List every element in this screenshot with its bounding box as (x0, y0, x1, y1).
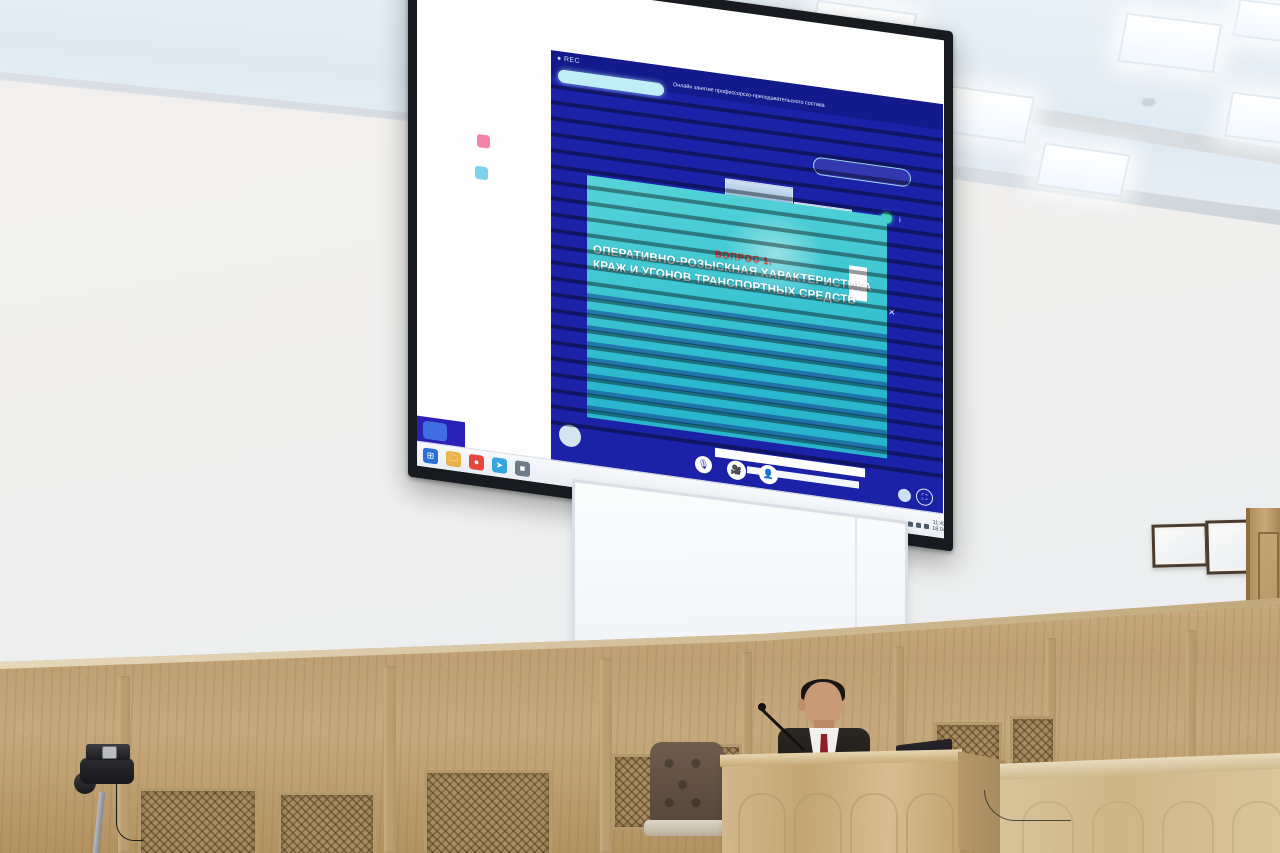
info-icon[interactable]: i (899, 215, 901, 224)
wall-mounted-tv[interactable]: ● REC Онлайн занятие профессорско-препод… (408, 0, 953, 552)
tray-icon[interactable] (924, 523, 929, 529)
radiator-grille-panel (278, 792, 376, 853)
podium-arch (794, 793, 842, 853)
desk-arch (1092, 801, 1144, 853)
start-tile-glyph (423, 420, 447, 441)
frame-mat (1211, 526, 1248, 569)
wainscot-pillar (600, 658, 612, 853)
wainscot-pillar (384, 666, 396, 853)
podium-arch (850, 793, 898, 853)
tv-screen[interactable]: ● REC Онлайн занятие профессорско-препод… (417, 0, 944, 538)
radiator-grille-panel (424, 770, 552, 853)
armchair-back (650, 742, 724, 824)
microphone-capsule (758, 703, 766, 711)
video-conference-window[interactable]: ● REC Онлайн занятие профессорско-препод… (551, 50, 943, 518)
taskbar-icon-explorer[interactable]: 🗀 (446, 450, 461, 467)
tripod-camera[interactable] (58, 742, 168, 853)
taskbar-icon-chrome[interactable]: ● (469, 453, 484, 470)
armchair-seat (644, 820, 730, 836)
armchair[interactable] (644, 742, 728, 846)
taskbar-clock-date[interactable]: 18.04 (932, 527, 944, 535)
taskbar-icon-app[interactable]: ■ (515, 460, 530, 477)
desktop-icon-pink[interactable] (477, 134, 490, 149)
wall-frame-left (1151, 523, 1208, 567)
conference-title-bar (551, 50, 943, 130)
tripod-leg (93, 792, 105, 853)
desktop-icon-cyan[interactable] (475, 166, 488, 181)
tray-icon[interactable] (916, 522, 921, 528)
tray-icon[interactable] (908, 521, 913, 527)
camera-cable (116, 782, 143, 841)
taskbar-icon-start[interactable]: ⊞ (423, 447, 438, 464)
led-ceiling-panel (1233, 0, 1280, 43)
desk-arch (1162, 801, 1214, 853)
podium-arch (906, 793, 954, 853)
lecture-hall-scene: ● REC Онлайн занятие профессорско-препод… (0, 0, 1280, 853)
tripod-head (80, 758, 134, 784)
podium-arch (738, 793, 786, 853)
taskbar-icon-telegram[interactable]: ➤ (492, 456, 507, 473)
smoke-detector-icon (1142, 98, 1155, 105)
microphone-arm (759, 706, 805, 751)
frame-mat (1158, 529, 1203, 561)
desk-arch (1232, 801, 1280, 853)
speaker-podium[interactable] (722, 760, 960, 853)
camera-lens-icon (102, 746, 117, 759)
